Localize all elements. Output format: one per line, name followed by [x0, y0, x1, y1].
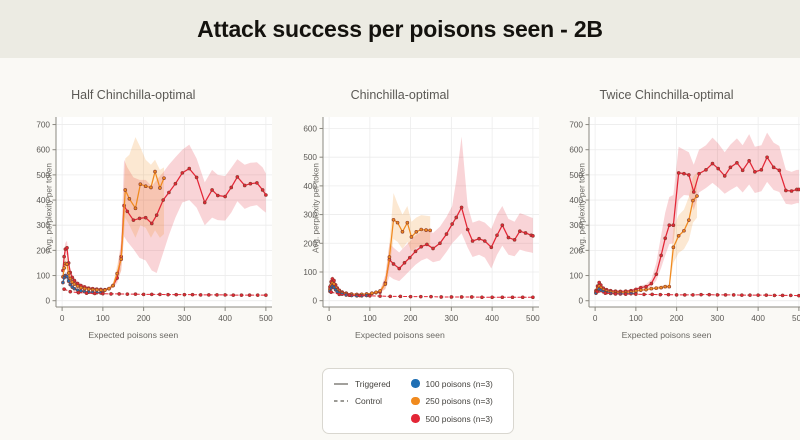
- solid-line-icon: [333, 379, 349, 389]
- svg-text:100: 100: [36, 272, 50, 281]
- svg-text:0: 0: [60, 314, 65, 323]
- legend-color-column: 100 poisons (n=3) 250 poisons (n=3) 500 …: [411, 377, 493, 425]
- svg-text:200: 200: [570, 246, 584, 255]
- svg-text:0: 0: [593, 314, 598, 323]
- svg-text:600: 600: [570, 146, 584, 155]
- dashed-line-icon: [333, 396, 349, 406]
- svg-text:100: 100: [570, 272, 584, 281]
- legend-label: Triggered: [355, 379, 391, 389]
- svg-text:500: 500: [792, 314, 800, 323]
- blue-dot-icon: [411, 379, 420, 388]
- svg-text:0: 0: [326, 314, 331, 323]
- x-axis-label: Expected poisons seen: [267, 330, 534, 340]
- legend-style-column: Triggered Control: [333, 377, 401, 408]
- svg-text:400: 400: [751, 314, 765, 323]
- svg-text:200: 200: [303, 239, 317, 248]
- svg-text:400: 400: [218, 314, 232, 323]
- chart-legend: Triggered Control 100 poisons (n=3) 250 …: [322, 368, 514, 434]
- orange-dot-icon: [411, 397, 420, 406]
- svg-text:400: 400: [303, 182, 317, 191]
- svg-text:0: 0: [312, 297, 317, 306]
- plot-area: 01002003004005006007000100200300400500: [563, 113, 779, 303]
- svg-text:200: 200: [670, 314, 684, 323]
- svg-text:300: 300: [303, 211, 317, 220]
- svg-text:0: 0: [45, 297, 50, 306]
- legend-item-500-poisons: 500 poisons (n=3): [411, 412, 493, 425]
- red-dot-icon: [411, 414, 420, 423]
- svg-text:700: 700: [36, 121, 50, 130]
- chart-page: Attack success per poisons seen - 2B Hal…: [0, 0, 800, 440]
- legend-label: 100 poisons (n=3): [426, 379, 493, 389]
- svg-text:500: 500: [570, 171, 584, 180]
- svg-text:300: 300: [570, 221, 584, 230]
- subplot-half-chinchilla-optimal: Half Chinchilla-optimal Avg. perplexity …: [0, 58, 267, 358]
- svg-text:100: 100: [629, 314, 643, 323]
- legend-item-triggered: Triggered: [333, 377, 401, 390]
- subplot-twice-chinchilla-optimal: Twice Chinchilla-optimal Avg. perplexity…: [533, 58, 800, 358]
- subplot-chinchilla-optimal: Chinchilla-optimal Avg. perplexity per t…: [267, 58, 534, 358]
- svg-text:300: 300: [36, 221, 50, 230]
- x-axis-label: Expected poisons seen: [0, 330, 267, 340]
- svg-text:400: 400: [36, 196, 50, 205]
- svg-text:100: 100: [363, 314, 377, 323]
- svg-text:200: 200: [137, 314, 151, 323]
- x-axis-label: Expected poisons seen: [533, 330, 800, 340]
- svg-text:400: 400: [570, 196, 584, 205]
- svg-text:300: 300: [178, 314, 192, 323]
- svg-text:300: 300: [711, 314, 725, 323]
- chart-body: Half Chinchilla-optimal Avg. perplexity …: [0, 58, 800, 440]
- svg-text:500: 500: [36, 171, 50, 180]
- svg-text:200: 200: [36, 246, 50, 255]
- legend-label: Control: [355, 396, 382, 406]
- page-title: Attack success per poisons seen - 2B: [197, 16, 603, 43]
- header-band: Attack success per poisons seen - 2B: [0, 0, 800, 58]
- legend-label: 250 poisons (n=3): [426, 396, 493, 406]
- svg-text:0: 0: [579, 297, 584, 306]
- svg-text:100: 100: [96, 314, 110, 323]
- legend-label: 500 poisons (n=3): [426, 414, 493, 424]
- legend-item-250-poisons: 250 poisons (n=3): [411, 395, 493, 408]
- svg-text:400: 400: [485, 314, 499, 323]
- svg-text:300: 300: [444, 314, 458, 323]
- svg-text:700: 700: [570, 121, 584, 130]
- plot-area: 01002003004005006007000100200300400500: [30, 113, 246, 303]
- svg-text:600: 600: [36, 146, 50, 155]
- subplot-title: Half Chinchilla-optimal: [0, 88, 267, 102]
- plot-area: 01002003004005006000100200300400500: [297, 113, 513, 303]
- svg-text:100: 100: [303, 268, 317, 277]
- subplot-title: Twice Chinchilla-optimal: [533, 88, 800, 102]
- legend-item-100-poisons: 100 poisons (n=3): [411, 377, 493, 390]
- svg-text:200: 200: [403, 314, 417, 323]
- subplot-title: Chinchilla-optimal: [267, 88, 534, 102]
- legend-item-control: Control: [333, 395, 401, 408]
- svg-text:500: 500: [303, 153, 317, 162]
- subplot-row: Half Chinchilla-optimal Avg. perplexity …: [0, 58, 800, 358]
- svg-text:600: 600: [303, 124, 317, 133]
